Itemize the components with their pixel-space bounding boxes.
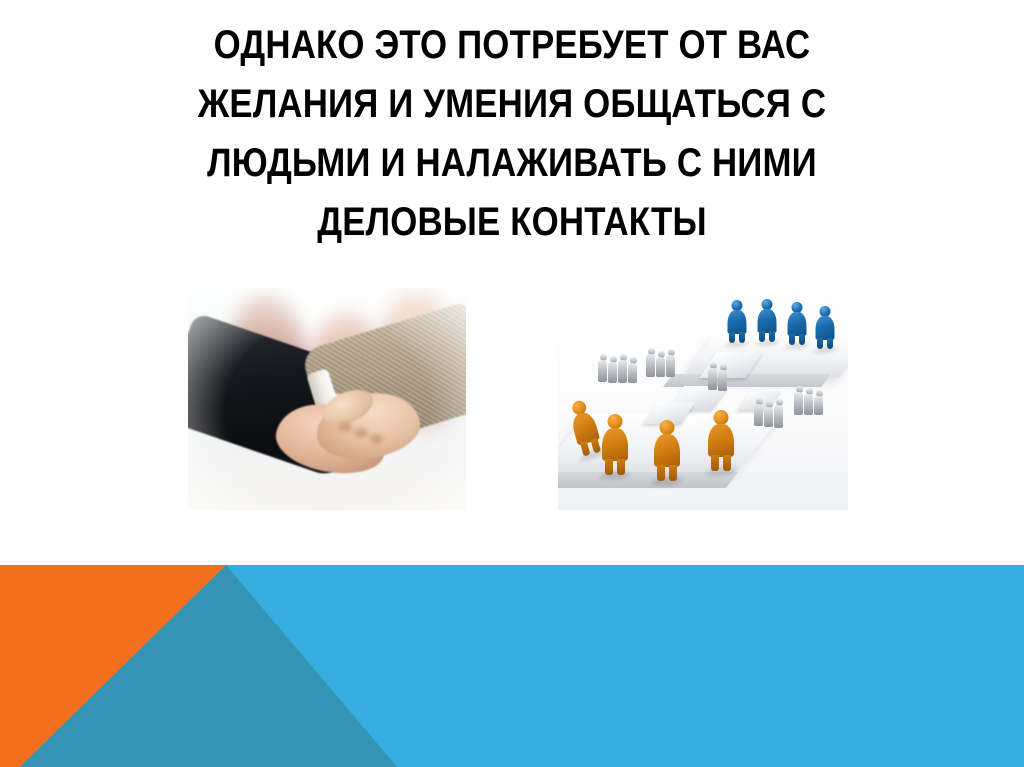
orange-figure-3 [652,420,682,482]
handshake-photo [188,288,466,510]
photo-vignette [188,288,466,510]
title-line-2: ЖЕЛАНИЯ И УМЕНИЯ ОБЩАТЬСЯ С [101,75,922,134]
orange-figure-2 [600,414,630,476]
title-line-4: ДЕЛОВЫЕ КОНТАКТЫ [101,193,922,252]
title-line-1: ОДНАКО ЭТО ПОТРЕБУЕТ ОТ ВАС [101,16,922,75]
chevron-band-svg [0,565,1024,767]
image-row [0,288,1024,523]
teamwork-3d-illustration [558,290,848,510]
bottom-chevron-band [0,565,1024,767]
blue-figure-2 [756,299,778,343]
blue-figure-1 [726,300,748,344]
title-line-3: ЛЮДЬМИ И НАЛАЖИВАТЬ С НИМИ [101,134,922,193]
page-title: ОДНАКО ЭТО ПОТРЕБУЕТ ОТ ВАС ЖЕЛАНИЯ И УМ… [40,16,984,252]
orange-figure-4 [706,410,736,472]
blue-figure-4 [814,306,836,350]
slide-canvas: ОДНАКО ЭТО ПОТРЕБУЕТ ОТ ВАС ЖЕЛАНИЯ И УМ… [0,0,1024,767]
blue-figure-3 [786,302,808,346]
